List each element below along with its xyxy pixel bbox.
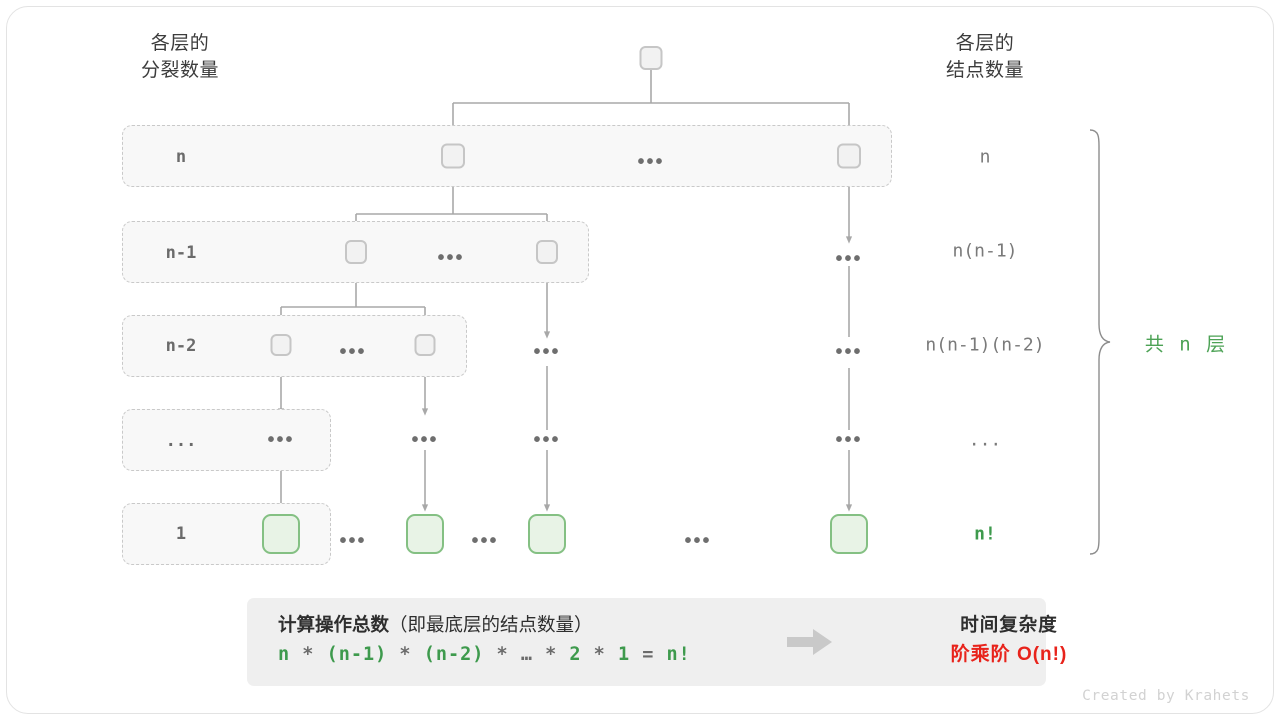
tree-node-leaf-d	[830, 514, 868, 554]
formula-op-4: *	[533, 644, 569, 665]
formula-term-5: 2	[569, 644, 581, 665]
formula-term-7: n!	[667, 644, 691, 665]
level-count-label-1: n	[980, 147, 991, 168]
ellipsis-leaf-1: •••	[339, 531, 366, 551]
formula-op-1: *	[290, 644, 326, 665]
tree-node-leaf-c	[528, 514, 566, 554]
complexity-title: 时间复杂度	[859, 610, 1159, 640]
formula-term-1: n	[278, 644, 290, 665]
ellipsis-l4-c: •••	[533, 430, 560, 450]
formula-term-4: …	[521, 644, 533, 665]
summary-title: 计算操作总数（即最底层的结点数量）	[278, 610, 798, 640]
tree-node-l1-b	[837, 144, 861, 169]
level-split-label-4: ...	[166, 431, 197, 451]
ellipsis-l4-b: •••	[411, 430, 438, 450]
ellipsis-l2: •••	[437, 248, 464, 268]
summary-formula: n * (n-1) * (n-2) * … * 2 * 1 = n!	[278, 640, 798, 670]
ellipsis-l3-mid: •••	[533, 342, 560, 362]
watermark-credit: Created by Krahets	[1082, 688, 1250, 704]
formula-op-2: *	[387, 644, 423, 665]
right-arrow-icon	[787, 628, 833, 656]
summary-box: 计算操作总数（即最底层的结点数量） n * (n-1) * (n-2) * … …	[247, 598, 1046, 686]
summary-title-rest: （即最底层的结点数量）	[389, 614, 593, 635]
ellipsis-l4-a: •••	[267, 430, 294, 450]
brace-label-total-levels: 共 n 层	[1145, 330, 1227, 357]
level-count-label-3: n(n-1)(n-2)	[925, 335, 1044, 356]
summary-right: 时间复杂度 阶乘阶 O(n!)	[859, 610, 1159, 670]
ellipsis-leaf-2: •••	[471, 531, 498, 551]
level-count-label-4: ...	[969, 430, 1002, 451]
formula-term-6: 1	[618, 644, 630, 665]
ellipsis-l3: •••	[339, 342, 366, 362]
diagram-canvas: 各层的 分裂数量 各层的 结点数量	[0, 0, 1280, 720]
tree-node-leaf-b	[406, 514, 444, 554]
formula-op-5: *	[582, 644, 618, 665]
ellipsis-l4-d: •••	[835, 430, 862, 450]
tree-node-leaf-a	[262, 514, 300, 554]
level-split-label-1: n	[176, 147, 186, 167]
summary-title-bold: 计算操作总数	[278, 614, 389, 635]
level-range-brace	[1086, 128, 1116, 556]
summary-left: 计算操作总数（即最底层的结点数量） n * (n-1) * (n-2) * … …	[278, 610, 798, 670]
formula-op-6: =	[630, 644, 666, 665]
tree-node-l3-a	[271, 334, 292, 356]
complexity-value: 阶乘阶 O(n!)	[859, 640, 1159, 670]
level-band-4	[122, 409, 331, 471]
level-split-label-3: n-2	[166, 336, 197, 356]
level-split-label-5: 1	[176, 524, 186, 544]
ellipsis-l3-right: •••	[835, 342, 862, 362]
formula-op-3: *	[484, 644, 520, 665]
level-count-label-2: n(n-1)	[952, 241, 1017, 262]
level-count-label-5: n!	[974, 524, 996, 545]
ellipsis-l1: •••	[637, 152, 664, 172]
ellipsis-l2-right: •••	[835, 249, 862, 269]
formula-term-2: (n-1)	[327, 644, 388, 665]
tree-node-l1-a	[441, 144, 465, 169]
formula-term-3: (n-2)	[424, 644, 485, 665]
tree-node-l3-b	[415, 334, 436, 356]
tree-node-root	[640, 46, 663, 70]
level-split-label-2: n-1	[166, 243, 197, 263]
ellipsis-leaf-3: •••	[684, 531, 711, 551]
tree-node-l2-a	[345, 240, 367, 264]
tree-node-l2-b	[536, 240, 558, 264]
level-band-1	[122, 125, 892, 187]
